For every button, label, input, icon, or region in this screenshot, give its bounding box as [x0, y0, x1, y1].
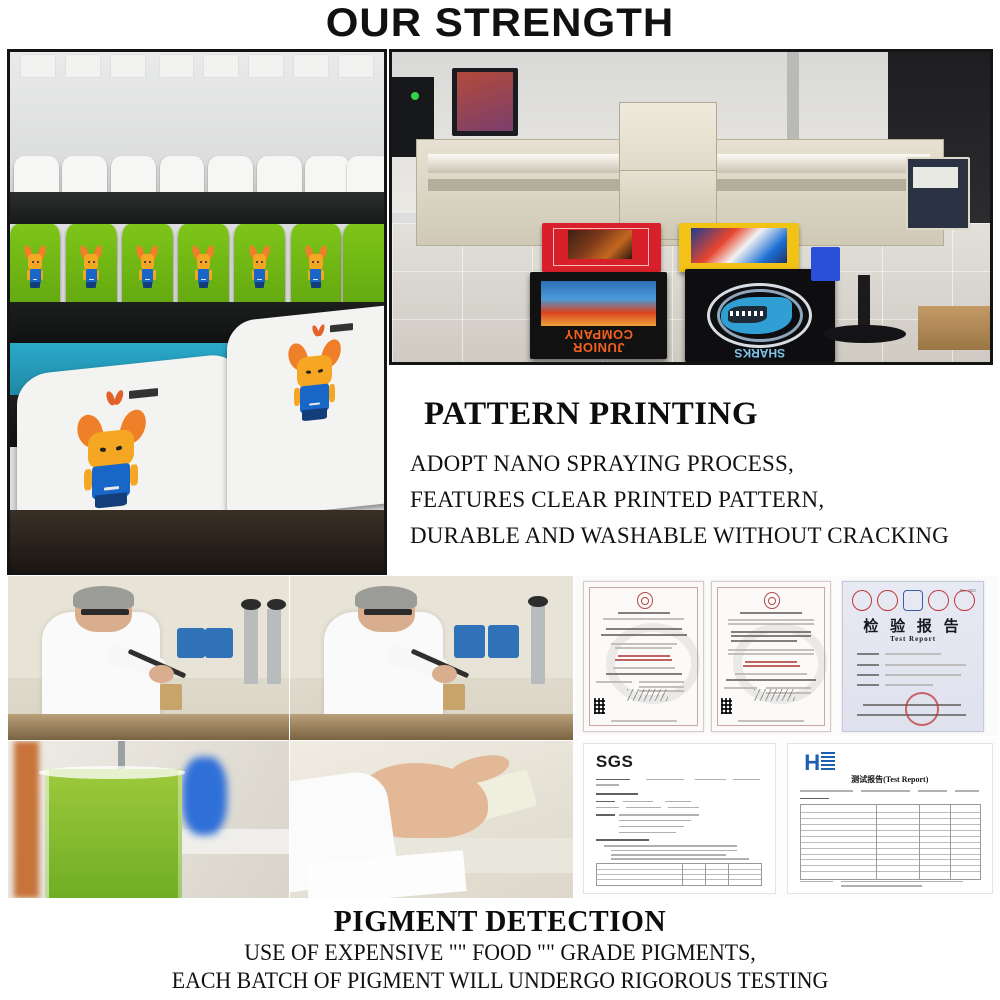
- platen-yellow: [679, 223, 799, 273]
- lab-bench: [8, 714, 289, 740]
- lab-mixer-blue-2: [205, 628, 233, 658]
- background-orange-blur: [14, 741, 39, 898]
- lab-mixer-blue-2: [488, 625, 519, 658]
- photo-fabric-inspection: [290, 741, 573, 898]
- lab-knob-icon: [528, 596, 548, 607]
- pattern-printing-line-1: ADOPT NANO SPRAYING PROCESS,: [392, 447, 992, 481]
- technician-hair: [355, 586, 417, 609]
- lab-result-table: [800, 804, 981, 880]
- photo-test-reports: SGS: [575, 737, 999, 898]
- eyeglasses-icon: [364, 609, 412, 616]
- inspection-test-report: No.: 2021 检 验 报 告 Test Report: [842, 581, 984, 732]
- tablet-screen: [457, 72, 513, 131]
- sample-bottle: [160, 684, 182, 710]
- certificate-english: [711, 581, 832, 732]
- green-shirt-row: [10, 224, 384, 307]
- platen-black-junior: JUNIOR COMPANY: [530, 272, 668, 359]
- pigment-detection-line-1: USE OF EXPENSIVE "" FOOD "" GRADE PIGMEN…: [25, 938, 975, 968]
- platen-red: [542, 223, 662, 273]
- sgs-result-table: [596, 863, 762, 886]
- h-brand-logo: H: [804, 750, 820, 776]
- photo-lab-technician-2: [290, 576, 573, 740]
- blue-container: [811, 247, 841, 281]
- photo-green-pigment-beaker: [8, 741, 289, 898]
- photo-conveyor-line: [10, 52, 384, 572]
- background-shelf: [171, 829, 289, 854]
- lab-stand-1: [531, 606, 545, 685]
- ccc-logo-icon: [852, 590, 872, 611]
- sharks-artwork: [703, 280, 817, 351]
- bull-mascot-icon: [81, 245, 101, 288]
- sample-bottle: [443, 684, 466, 710]
- bull-logo-icon: [312, 324, 324, 337]
- beaker-with-green-liquid: [45, 769, 182, 898]
- bull-mascot-icon: [250, 245, 270, 288]
- pigment-detection-heading: PIGMENT DETECTION: [25, 902, 975, 940]
- photo-dtg-printer: JUNIOR COMPANY SHARKS: [392, 52, 990, 362]
- photo-lab-technician-1: [8, 576, 289, 740]
- h-logo-bars-icon: [821, 752, 835, 770]
- beaker-rim: [39, 766, 185, 779]
- lab-test-report: H 测试报告(Test Report): [787, 743, 993, 893]
- technician-hand: [432, 665, 457, 683]
- technician-hand: [149, 665, 174, 683]
- page-title: OUR STRENGTH: [0, 2, 1000, 44]
- eyeglasses-icon: [81, 609, 129, 616]
- photo-certificates: No.: 2021 检 验 报 告 Test Report: [575, 576, 999, 736]
- iso-logo-icon: [903, 590, 923, 611]
- certification-seal-icon: [637, 592, 653, 609]
- lab-mixer-blue-1: [454, 625, 485, 658]
- poster-root: OUR STRENGTH: [0, 0, 1000, 1000]
- lab-stand-1: [244, 609, 258, 684]
- lab-report-title: 测试报告(Test Report): [788, 774, 992, 785]
- approval-logo-icon: [954, 590, 974, 611]
- brand-wordmark: [330, 323, 353, 332]
- quality-logo-icon: [928, 590, 948, 611]
- ce-logo-icon: [877, 590, 897, 611]
- test-report-title-en: Test Report: [843, 635, 983, 643]
- certificate-chinese: [583, 581, 704, 732]
- certification-logos: [852, 591, 975, 610]
- pigment-detection-line-2: EACH BATCH OF PIGMENT WILL UNDERGO RIGOR…: [25, 966, 975, 996]
- junior-company-text: JUNIOR COMPANY: [538, 328, 659, 354]
- sgs-logo: SGS: [596, 752, 633, 772]
- bull-mascot-icon: [289, 338, 340, 422]
- pattern-printing-line-3: DURABLE AND WASHABLE WITHOUT CRACKING: [392, 519, 992, 553]
- platen-black-sharks: SHARKS: [685, 269, 835, 362]
- bull-logo-icon: [107, 390, 123, 406]
- bull-mascot-icon: [78, 408, 145, 511]
- printer-panel-screen: [913, 167, 958, 189]
- bull-mascot-icon: [306, 245, 326, 288]
- background-blue-equipment: [182, 757, 227, 836]
- conveyor-rail-upper: [10, 192, 384, 223]
- technician-hair: [73, 586, 135, 609]
- lab-bench: [290, 714, 573, 740]
- test-report-title-cn: 检 验 报 告: [843, 615, 983, 636]
- bull-mascot-icon: [193, 245, 213, 288]
- official-red-stamp-icon: [905, 692, 940, 726]
- lab-stand-2: [267, 609, 281, 684]
- cardboard-box: [918, 306, 990, 349]
- brand-wordmark: [130, 388, 159, 399]
- sharks-text: SHARKS: [685, 346, 835, 360]
- pattern-printing-line-2: FEATURES CLEAR PRINTED PATTERN,: [392, 483, 992, 517]
- printed-shirt-background: [227, 302, 384, 520]
- conveyor-table: [10, 510, 384, 572]
- bull-mascot-icon: [25, 245, 45, 288]
- lab-mixer-blue-1: [177, 628, 205, 658]
- sgs-report: SGS: [583, 743, 776, 893]
- bull-mascot-icon: [137, 245, 157, 288]
- junior-artwork: [541, 281, 657, 326]
- pattern-printing-heading: PATTERN PRINTING: [392, 394, 992, 434]
